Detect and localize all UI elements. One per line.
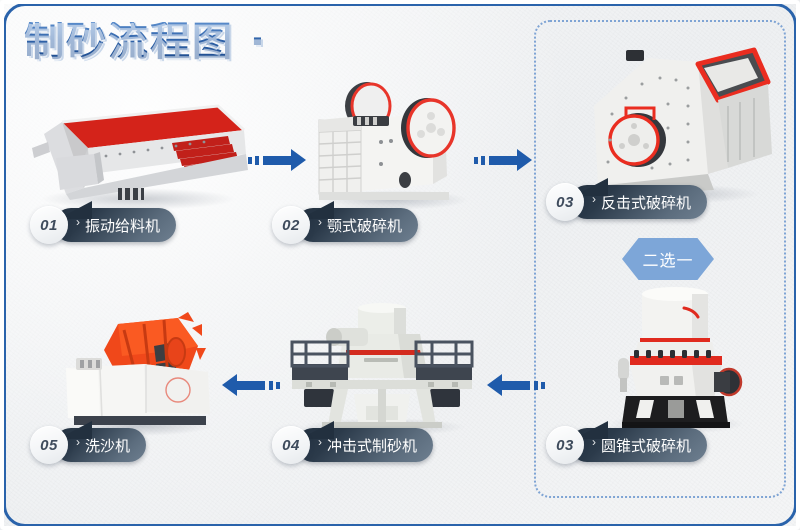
machine-vsi-sand-maker [282,302,482,434]
flowchart-page: 制砂流程图 · 制砂流程图 · [0,0,800,530]
chevron-right-icon: › [76,435,80,449]
arrow-head-icon [222,374,237,396]
arrow-head-icon [487,374,502,396]
step-number-03-impact: 03 [546,183,584,221]
impact-crusher-icon [568,44,776,204]
step-number-03-cone: 03 [546,426,584,464]
chevron-right-icon: › [318,215,322,229]
step-label-text-05: 洗沙机 [85,435,130,456]
vibrating-feeder-icon [22,96,252,208]
chevron-right-icon: › [592,192,596,206]
step-badge-03-cone[interactable]: 03 › 圆锥式破碎机 [546,428,707,462]
step-number-04: 04 [272,426,310,464]
step-label-pill-04: › 冲击式制砂机 [296,428,433,462]
step-label-text-02: 颚式破碎机 [327,215,402,236]
machine-cone-crusher [596,282,756,434]
step-badge-03-impact[interactable]: 03 › 反击式破碎机 [546,185,707,219]
step-number-02: 02 [272,206,310,244]
arrow-dots [474,156,485,165]
arrow-shaft [489,156,517,165]
jaw-crusher-icon [305,72,480,208]
arrow-feeder-to-jaw [248,150,306,170]
arrow-dots [269,381,280,390]
step-label-pill-03-impact: › 反击式破碎机 [570,185,707,219]
cone-crusher-icon [596,282,756,434]
arrow-vsi-to-washer [222,375,280,395]
sand-washer-icon [58,306,228,434]
step-label-pill-01: › 振动给料机 [54,208,176,242]
arrow-jaw-to-impact [474,150,532,170]
arrow-cone-to-vsi [487,375,545,395]
step-label-pill-03-cone: › 圆锥式破碎机 [570,428,707,462]
step-badge-02[interactable]: 02 › 颚式破碎机 [272,208,418,242]
arrow-dots [248,156,259,165]
step-number-05: 05 [30,426,68,464]
step-label-text-01: 振动给料机 [85,215,160,236]
arrow-dots [534,381,545,390]
page-title: 制砂流程图 · [24,22,267,62]
step-badge-04[interactable]: 04 › 冲击式制砂机 [272,428,433,462]
machine-sand-washer [58,306,228,434]
arrow-head-icon [291,149,306,171]
step-badge-05[interactable]: 05 › 洗沙机 [30,428,146,462]
chevron-right-icon: › [592,435,596,449]
step-badge-01[interactable]: 01 › 振动给料机 [30,208,176,242]
arrow-shaft [237,381,265,390]
machine-impact-crusher [568,44,776,204]
step-label-text-03-cone: 圆锥式破碎机 [601,435,691,456]
machine-vibrating-feeder [22,96,252,208]
either-or-badge: 二选一 [622,238,714,280]
arrow-shaft [502,381,530,390]
step-number-01: 01 [30,206,68,244]
step-label-pill-02: › 颚式破碎机 [296,208,418,242]
arrow-head-icon [517,149,532,171]
vsi-sand-maker-icon [282,302,482,434]
arrow-shaft [263,156,291,165]
chevron-right-icon: › [76,215,80,229]
machine-jaw-crusher [305,72,480,208]
chevron-right-icon: › [318,435,322,449]
step-label-text-04: 冲击式制砂机 [327,435,417,456]
step-label-text-03-impact: 反击式破碎机 [601,192,691,213]
